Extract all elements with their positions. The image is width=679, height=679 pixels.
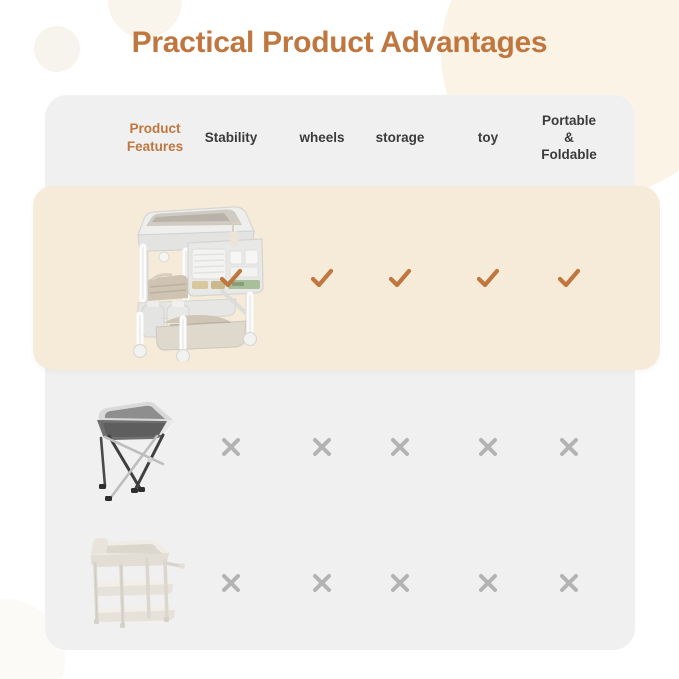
cell-storage-cross bbox=[383, 566, 417, 600]
header-column-storage: storage bbox=[355, 95, 445, 180]
header-product-features-line1: Product bbox=[127, 120, 183, 137]
table-row bbox=[45, 378, 635, 516]
cell-wheels-cross bbox=[305, 566, 339, 600]
header-column-portable-foldable-line3: Foldable bbox=[541, 146, 597, 163]
cell-toy-check bbox=[471, 261, 505, 295]
header-column-portable-foldable-line1: Portable bbox=[541, 112, 597, 129]
cell-storage-cross bbox=[383, 430, 417, 464]
infographic-canvas: Practical Product Advantages Product Fea… bbox=[0, 0, 679, 679]
cell-stability-cross bbox=[214, 430, 248, 464]
page-title: Practical Product Advantages bbox=[0, 26, 679, 60]
header-column-portable-foldable: Portable & Foldable bbox=[524, 95, 614, 180]
table-row bbox=[33, 186, 660, 370]
row-marks bbox=[33, 186, 660, 370]
header-column-storage-label: storage bbox=[376, 129, 425, 146]
header-column-stability: Stability bbox=[186, 95, 276, 180]
cell-toy-cross bbox=[471, 430, 505, 464]
table-header-row: Product Features Stability wheels storag… bbox=[45, 95, 635, 180]
cell-storage-check bbox=[383, 261, 417, 295]
row-marks bbox=[45, 378, 635, 516]
table-row bbox=[45, 516, 635, 650]
header-column-portable-foldable-line2: & bbox=[541, 129, 597, 146]
cell-stability-check bbox=[214, 261, 248, 295]
cell-portable-foldable-check bbox=[552, 261, 586, 295]
header-column-wheels-label: wheels bbox=[299, 129, 344, 146]
row-marks bbox=[45, 516, 635, 650]
cell-wheels-check bbox=[305, 261, 339, 295]
header-column-stability-label: Stability bbox=[205, 129, 258, 146]
cell-portable-foldable-cross bbox=[552, 430, 586, 464]
cell-stability-cross bbox=[214, 566, 248, 600]
cell-portable-foldable-cross bbox=[552, 566, 586, 600]
header-product-features-line2: Features bbox=[127, 138, 183, 155]
cell-wheels-cross bbox=[305, 430, 339, 464]
header-column-toy: toy bbox=[443, 95, 533, 180]
header-column-toy-label: toy bbox=[478, 129, 498, 146]
header-column-wheels: wheels bbox=[277, 95, 367, 180]
cell-toy-cross bbox=[471, 566, 505, 600]
